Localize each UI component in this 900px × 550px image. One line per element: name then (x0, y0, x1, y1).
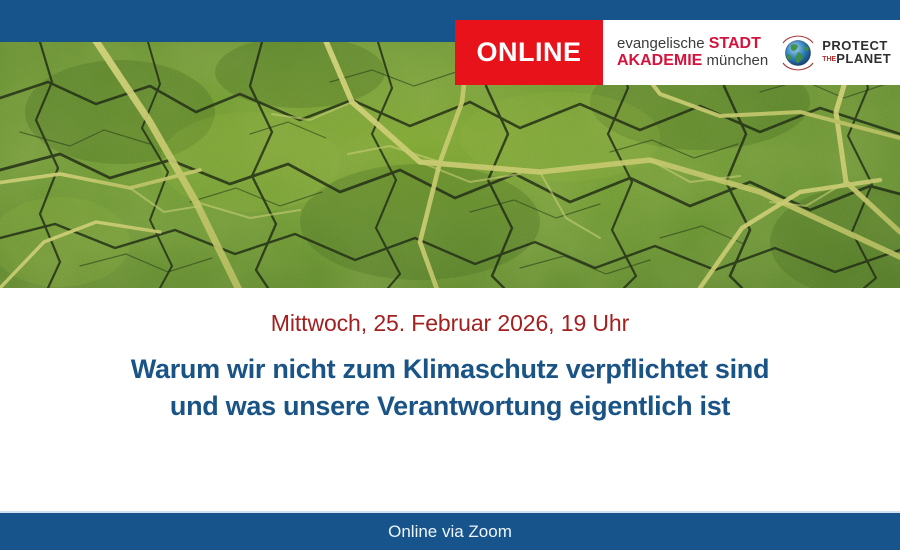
footer-bar: Online via Zoom (0, 511, 900, 550)
akademie-line1-plain: evangelische (617, 35, 709, 52)
event-poster: ONLINE evangelische STADT AKADEMIE münch… (0, 0, 900, 550)
event-location: Online via Zoom (388, 522, 512, 542)
akademie-line2-bold: AKADEMIE (617, 52, 702, 69)
akademie-line2-plain: münchen (702, 52, 768, 69)
ptp-line2: PLANET (836, 51, 891, 66)
logo-white-strip: evangelische STADT AKADEMIE münchen (603, 20, 900, 85)
event-text-block: Mittwoch, 25. Februar 2026, 19 Uhr Warum… (0, 288, 900, 513)
akademie-line1-bold: STADT (709, 35, 761, 52)
event-title: Warum wir nicht zum Klimaschutz verpflic… (0, 351, 900, 424)
banner-logo-strip: ONLINE evangelische STADT AKADEMIE münch… (455, 20, 900, 85)
earth-globe-icon (778, 33, 818, 73)
event-date: Mittwoch, 25. Februar 2026, 19 Uhr (0, 310, 900, 337)
event-title-line-1: Warum wir nicht zum Klimaschutz verpflic… (40, 351, 860, 388)
ptp-the: THE (822, 56, 836, 63)
online-badge: ONLINE (455, 20, 603, 85)
evangelische-stadtakademie-logo: evangelische STADT AKADEMIE münchen (617, 36, 768, 70)
online-badge-label: ONLINE (476, 37, 581, 68)
protect-the-planet-logo: PROTECT THEPLANET (778, 33, 891, 73)
event-title-line-2: und was unsere Verantwortung eigentlich … (40, 388, 860, 425)
